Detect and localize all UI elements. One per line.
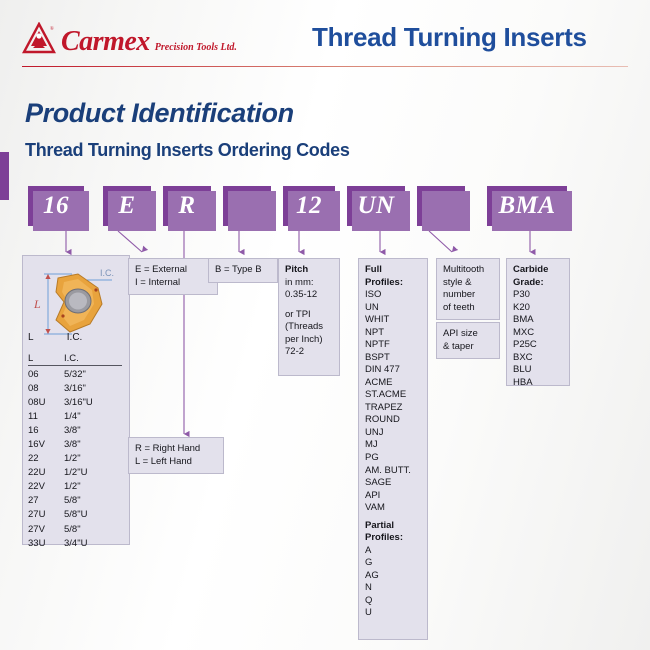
partial-profiles-heading-2: Profiles: [365,532,421,545]
list-item: K20 [513,302,563,315]
multitooth-line-2: style & [443,277,472,288]
list-item: NPTF [365,339,421,352]
size-code: 22 [28,452,64,466]
list-item: ROUND [365,414,421,427]
list-item: ACME [365,377,421,390]
size-table: L I.C. 065/32"083/16"08U3/16"U111/4"163/… [28,353,122,551]
size-code: 08U [28,396,64,410]
table-row: 08U3/16"U [28,396,122,410]
pitch-tpi: or TPI [285,309,311,320]
size-table-col-ic: I.C. [64,353,122,364]
size-code: 08 [28,382,64,396]
table-row: 22U1/2"U [28,466,122,480]
api-line-1: API size [443,328,478,339]
list-item: ISO [365,289,421,302]
list-item: BLU [513,364,563,377]
table-row: 22V1/2" [28,480,122,494]
size-code: 33U [28,537,64,551]
list-item: ST.ACME [365,389,421,402]
table-row: 27U5/8"U [28,508,122,522]
size-ic-value: 3/4"U [64,537,122,551]
size-ic-value: 1/2"U [64,466,122,480]
size-ic-value: 1/2" [64,480,122,494]
list-item: BMA [513,314,563,327]
table-row: 27V5/8" [28,523,122,537]
list-item: PG [365,452,421,465]
multitooth-line-3: number [443,289,475,300]
table-row: 111/4" [28,410,122,424]
orientation-external: E = External [135,264,187,275]
table-row: 065/32" [28,368,122,382]
hand-right: R = Right Hand [135,443,200,454]
size-table-header: L I.C. [28,353,122,366]
size-ic-value: 1/4" [64,410,122,424]
hand-direction-box: R = Right Hand L = Left Hand [128,437,224,474]
table-row: 16V3/8" [28,438,122,452]
full-profiles-heading-1: Full [365,264,421,277]
size-ic-value: 3/8" [64,424,122,438]
multitooth-box: Multitooth style & number of teeth [436,258,500,320]
partial-profiles-heading-1: Partial [365,520,421,533]
pitch-tpi-range: 72-2 [285,346,304,357]
table-row: 33U3/4"U [28,537,122,551]
size-code: 11 [28,410,64,424]
size-code: 27 [28,494,64,508]
pitch-unit: in mm: [285,277,314,288]
api-box: API size & taper [436,322,500,359]
hand-left: L = Left Hand [135,456,192,467]
size-ic-value: 5/8" [64,523,122,537]
list-item: UNJ [365,427,421,440]
list-item: BSPT [365,352,421,365]
list-item: U [365,607,421,620]
carbide-heading-2: Grade: [513,277,563,290]
size-ic-value: 3/16" [64,382,122,396]
size-code: 06 [28,368,64,382]
svg-text:I.C.: I.C. [100,268,114,278]
code-box-type[interactable] [223,186,271,226]
list-item: HBA [513,377,563,390]
list-item: BXC [513,352,563,365]
size-table-col-l: L [28,353,64,364]
size-code: 27V [28,523,64,537]
code-box-profile[interactable]: UN [347,186,405,226]
list-item: VAM [365,502,421,515]
size-code: 22V [28,480,64,494]
size-table-body: 065/32"083/16"08U3/16"U111/4"163/8"16V3/… [28,368,122,551]
size-code: 16 [28,424,64,438]
orientation-internal: I = Internal [135,277,180,288]
api-line-2: & taper [443,341,474,352]
list-item: G [365,557,421,570]
list-item: A [365,545,421,558]
table-row: 083/16" [28,382,122,396]
full-profiles-list: ISOUNWHITNPTNPTFBSPTDIN 477ACMEST.ACMETR… [365,289,421,515]
list-item: P25C [513,339,563,352]
size-ic-value: 3/16"U [64,396,122,410]
list-item: MXC [513,327,563,340]
multitooth-line-4: of teeth [443,302,475,313]
pitch-heading: Pitch [285,264,333,277]
orientation-box: E = External I = Internal [128,258,218,295]
table-row: 275/8" [28,494,122,508]
code-box-hand-rl[interactable]: R [163,186,211,226]
size-code: 22U [28,466,64,480]
carbide-grade-box: Carbide Grade: P30K20BMAMXCP25CBXCBLUHBA [506,258,570,386]
profiles-box: Full Profiles: ISOUNWHITNPTNPTFBSPTDIN 4… [358,258,428,640]
list-item: AG [365,570,421,583]
list-item: N [365,582,421,595]
table-row: 163/8" [28,424,122,438]
code-box-pitch[interactable]: 12 [283,186,335,226]
list-item: API [365,490,421,503]
carbide-heading-1: Carbide [513,264,563,277]
size-ic-value: 5/8" [64,494,122,508]
code-box-hand-ei[interactable]: E [103,186,151,226]
list-item: AM. BUTT. [365,465,421,478]
pitch-box: Pitch in mm: 0.35-12 or TPI (Threads per… [278,258,340,376]
pitch-range: 0.35-12 [285,289,317,300]
size-ic-value: 1/2" [64,452,122,466]
list-item: MJ [365,439,421,452]
caption-ic: I.C. [67,332,83,343]
pitch-tpi-exp-1: (Threads [285,321,323,332]
list-item: P30 [513,289,563,302]
partial-profiles-list: AGAGNQU [365,545,421,620]
insert-type-box: B = Type B [208,258,278,283]
list-item: SAGE [365,477,421,490]
code-box-grade[interactable]: BMA [487,186,567,226]
code-box-multitooth[interactable] [417,186,465,226]
pitch-tpi-exp-2: per Inch) [285,334,323,345]
list-item: WHIT [365,314,421,327]
list-item: TRAPEZ [365,402,421,415]
svg-text:L: L [33,297,41,311]
table-row: 221/2" [28,452,122,466]
size-code: 27U [28,508,64,522]
size-ic-value: 5/32" [64,368,122,382]
code-box-size[interactable]: 16 [28,186,84,226]
insert-type-b: B = Type B [215,264,262,275]
list-item: Q [365,595,421,608]
insert-dimension-caption: L I.C. [28,332,122,343]
multitooth-line-1: Multitooth [443,264,484,275]
size-code: 16V [28,438,64,452]
list-item: DIN 477 [365,364,421,377]
list-item: UN [365,302,421,315]
list-item: NPT [365,327,421,340]
caption-l: L [28,332,64,343]
size-ic-value: 3/8" [64,438,122,452]
full-profiles-heading-2: Profiles: [365,277,421,290]
size-ic-value: 5/8"U [64,508,122,522]
carbide-grade-list: P30K20BMAMXCP25CBXCBLUHBA [513,289,563,389]
